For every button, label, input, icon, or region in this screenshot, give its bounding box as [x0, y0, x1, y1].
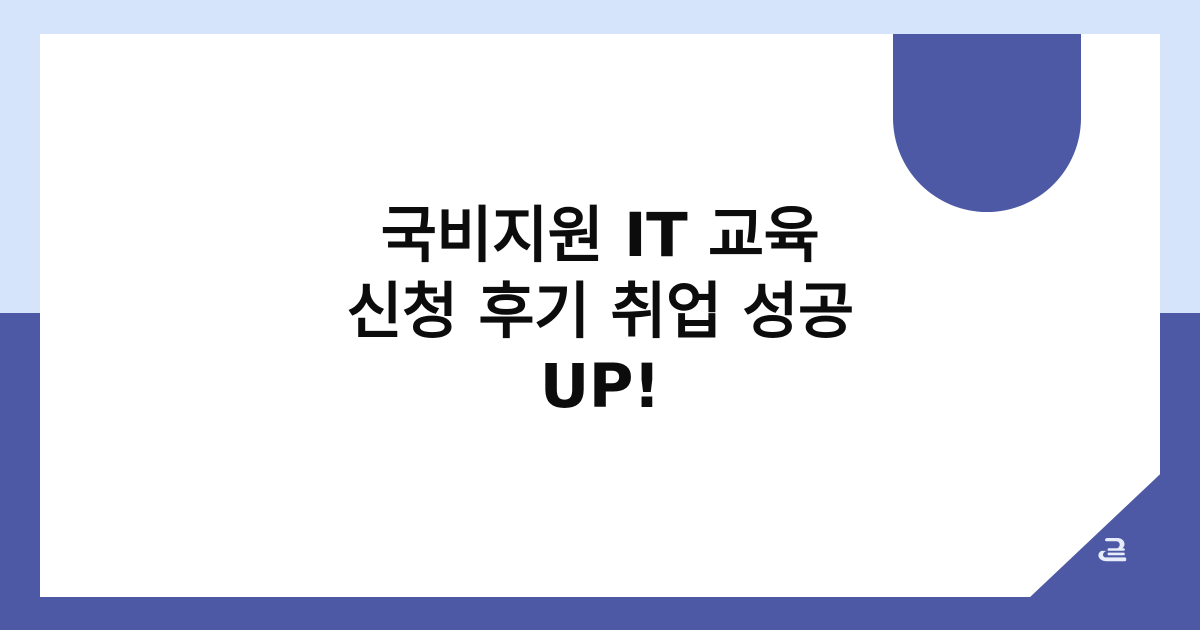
brand-logo-glyph — [1095, 536, 1129, 566]
headline-block: 국비지원 IT 교육 신청 후기 취업 성공 UP! — [40, 34, 1160, 597]
content-card: 국비지원 IT 교육 신청 후기 취업 성공 UP! — [40, 34, 1160, 597]
thumbnail-canvas: 국비지원 IT 교육 신청 후기 취업 성공 UP! — [0, 0, 1200, 630]
page-title: 국비지원 IT 교육 신청 후기 취업 성공 UP! — [346, 198, 853, 425]
